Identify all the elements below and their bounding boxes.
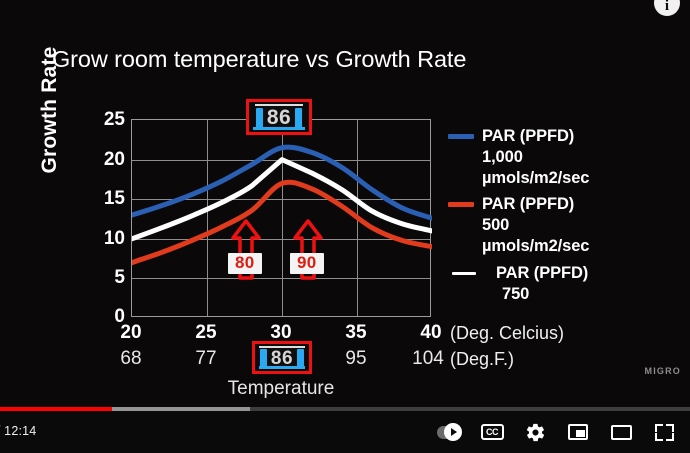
legend-label-2-line2: 500 <box>482 215 688 236</box>
y-tick-25: 25 <box>85 109 125 131</box>
callout-top-86[interactable]: 86 <box>246 99 312 135</box>
miniplayer-icon <box>568 424 588 440</box>
legend-label-1-line1: PAR (PPFD) <box>482 126 688 147</box>
chart-legend: PAR (PPFD) 1,000 µmols/m2/sec PAR (PPFD)… <box>448 126 688 307</box>
play-arrow-icon <box>444 423 462 441</box>
miniplayer-button[interactable] <box>566 420 590 444</box>
x-tick-c-25: 25 <box>176 322 236 344</box>
x-axis-title: Temperature <box>181 378 381 400</box>
legend-label-1-line3: µmols/m2/sec <box>482 168 688 189</box>
x-tick-c-35: 35 <box>326 322 386 344</box>
settings-button[interactable] <box>523 420 547 444</box>
annotation-label-80: 80 <box>228 253 262 274</box>
legend-item-par-750[interactable]: PAR (PPFD) 750 <box>448 263 688 305</box>
legend-label-3-line1: PAR (PPFD) <box>496 263 688 284</box>
legend-label-2-line1: PAR (PPFD) <box>482 194 688 215</box>
subtitles-button[interactable]: CC <box>480 420 504 444</box>
legend-item-par-500[interactable]: PAR (PPFD) 500 µmols/m2/sec <box>448 194 688 257</box>
x-tick-c-20: 20 <box>101 322 161 344</box>
watermark-migro: MIGRO <box>645 366 682 376</box>
x-tick-c-30: 30 <box>251 322 311 344</box>
y-tick-20: 20 <box>85 149 125 171</box>
x-tick-f-95: 95 <box>326 348 386 370</box>
video-player[interactable]: Grow room temperature vs Growth Rate Gro… <box>0 0 690 453</box>
y-tick-10: 10 <box>85 228 125 250</box>
player-right-controls: CC <box>437 411 676 453</box>
selection-handle-left-icon[interactable] <box>256 108 263 129</box>
player-controls[interactable]: 5 / 12:14 CC <box>0 411 690 453</box>
y-tick-5: 5 <box>85 267 125 289</box>
time-display: 5 / 12:14 <box>0 424 36 438</box>
x-tick-f-104: 104 <box>398 348 458 370</box>
plot-area <box>131 119 431 317</box>
legend-swatch-white-icon <box>452 272 476 275</box>
annotation-arrows <box>132 120 432 318</box>
x-axis-tick-labels-celsius: 20 25 30 35 40 (Deg. Celcius) <box>0 322 690 346</box>
x-tick-f-68: 68 <box>101 348 161 370</box>
theater-button[interactable] <box>609 420 633 444</box>
autoplay-toggle[interactable] <box>437 420 461 444</box>
y-tick-15: 15 <box>85 188 125 210</box>
y-axis-tick-labels: 25 20 15 10 5 0 <box>83 0 125 453</box>
autoplay-toggle-track <box>437 426 461 439</box>
x-tick-f-77: 77 <box>176 348 236 370</box>
legend-label-2-line3: µmols/m2/sec <box>482 236 688 257</box>
selection-handle-right-icon[interactable] <box>295 108 302 129</box>
legend-swatch-red-icon <box>448 202 474 207</box>
closed-captions-icon: CC <box>481 424 504 440</box>
unit-label-fahrenheit: (Deg.F.) <box>450 349 514 370</box>
legend-item-par-1000[interactable]: PAR (PPFD) 1,000 µmols/m2/sec <box>448 126 688 189</box>
legend-label-3-line2: 750 <box>502 284 688 305</box>
legend-label-1-line2: 1,000 <box>482 147 688 168</box>
annotation-label-90: 90 <box>290 253 324 274</box>
fullscreen-icon <box>655 424 674 441</box>
gear-icon <box>525 422 546 443</box>
x-axis-tick-labels-fahrenheit: 68 77 86 95 104 (Deg.F.) <box>0 348 690 372</box>
unit-label-celsius: (Deg. Celcius) <box>450 323 564 344</box>
slide-content: Grow room temperature vs Growth Rate Gro… <box>0 0 690 408</box>
fullscreen-button[interactable] <box>652 420 676 444</box>
y-axis-title: Growth Rate <box>38 30 62 190</box>
legend-swatch-blue-icon <box>448 134 474 139</box>
theater-mode-icon <box>611 425 632 440</box>
selection-underline <box>253 127 305 130</box>
